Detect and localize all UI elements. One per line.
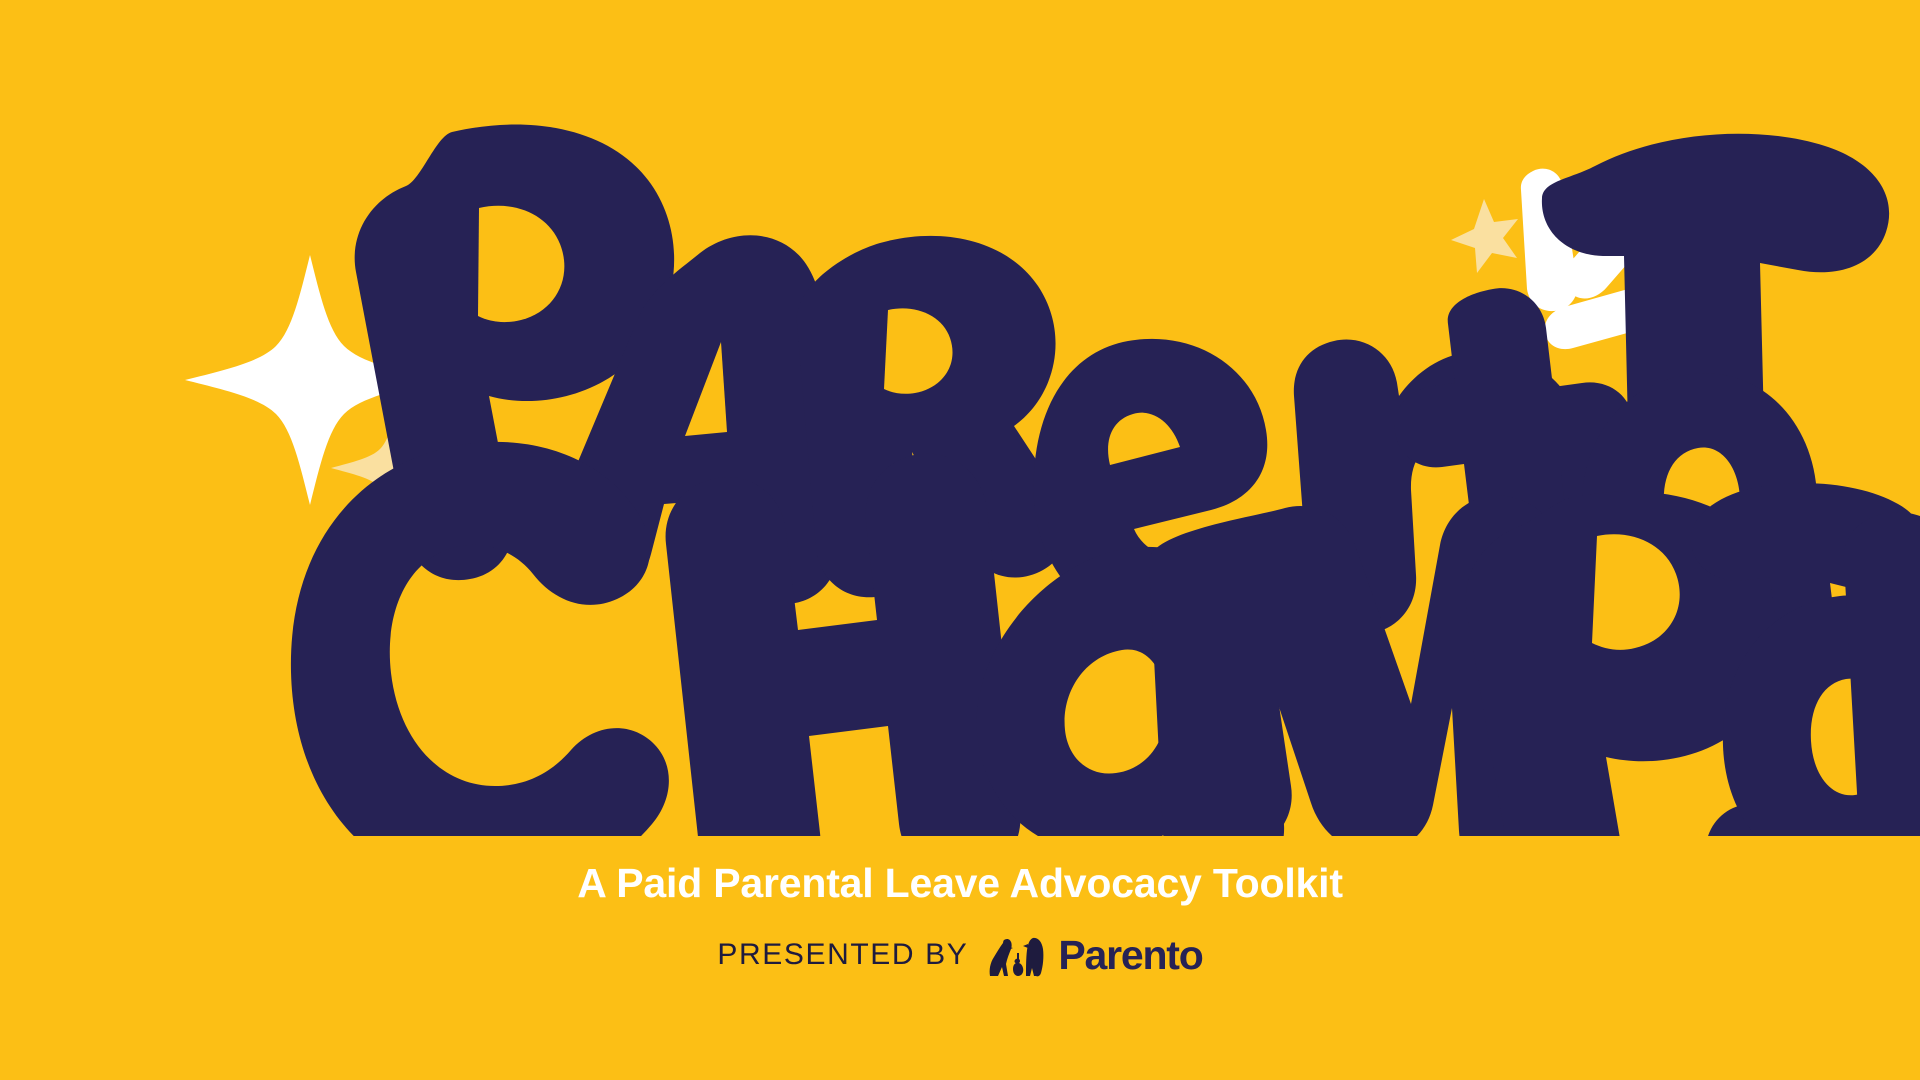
page-title <box>0 96 1920 836</box>
parento-wordmark: Parento <box>1058 935 1202 976</box>
penguin-family-icon <box>986 932 1048 978</box>
subtitle: A Paid Parental Leave Advocacy Toolkit <box>0 860 1920 907</box>
letter-C <box>291 442 669 836</box>
presented-by-label: PRESENTED BY <box>717 940 968 970</box>
parento-logo[interactable]: Parento <box>986 932 1202 978</box>
slide-canvas: A Paid Parental Leave Advocacy Toolkit P… <box>0 0 1920 1080</box>
presented-by-row: PRESENTED BY Parento <box>0 932 1920 978</box>
